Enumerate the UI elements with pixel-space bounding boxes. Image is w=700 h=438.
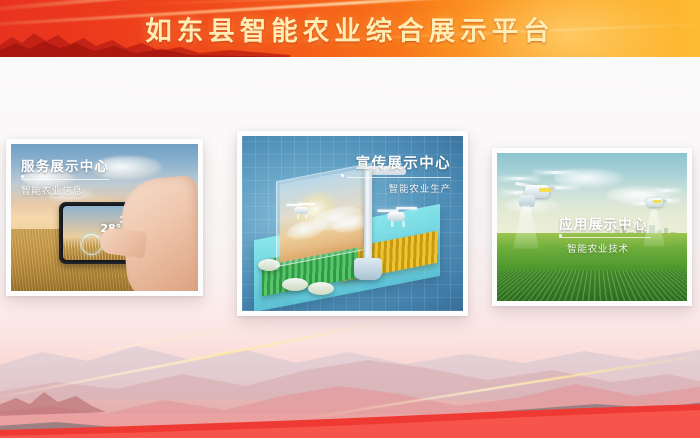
card-application-display-center[interactable]: 应用展示中心 智能农业技术 [492,148,692,306]
drone-accent [653,200,662,203]
card-application-title: 应用展示中心 [559,213,651,233]
card-promotion-text-block: 宣传展示中心 智能农业生产 [347,152,451,195]
hand-illustration [119,175,198,291]
drone-icon [499,169,585,215]
card-promotion-display-center[interactable]: 宣传展示中心 智能农业生产 [237,131,468,316]
hay-bale [282,278,308,291]
drone-accent [539,188,551,192]
hay-bale [308,282,334,295]
bullet-dot [559,234,562,237]
card-service-subtitle: 智能农业信息 [21,183,109,197]
page-title: 如东县智能农业综合展示平台 [0,0,700,57]
bullet-dot [21,175,24,178]
card-promotion-subtitle: 智能农业生产 [347,181,451,195]
card-service-inner: 28° 服务展示中心 [11,144,198,291]
card-service-title: 服务展示中心 [21,155,109,175]
hud-ring-left [81,234,102,255]
card-promotion-inner: 宣传展示中心 智能农业生产 [242,136,463,311]
header-banner: 如东县智能农业综合展示平台 [0,0,700,57]
card-application-inner: 应用展示中心 智能农业技术 [497,153,687,301]
card-service-display-center[interactable]: 28° 服务展示中心 [6,139,203,296]
card-service-text-block: 服务展示中心 智能农业信息 [21,155,109,197]
divider [21,179,109,180]
card-application-text-block: 应用展示中心 智能农业技术 [559,213,651,255]
drone-icon [377,206,425,229]
app-stage: 如东县智能农业综合展示平台 28° [0,0,700,438]
bullet-dot [341,174,344,177]
card-application-subtitle: 智能农业技术 [559,241,651,255]
drone-icon [286,202,316,216]
smart-pole-base [354,258,382,280]
divider [347,177,451,178]
card-promotion-title: 宣传展示中心 [347,152,451,173]
divider [559,237,651,238]
